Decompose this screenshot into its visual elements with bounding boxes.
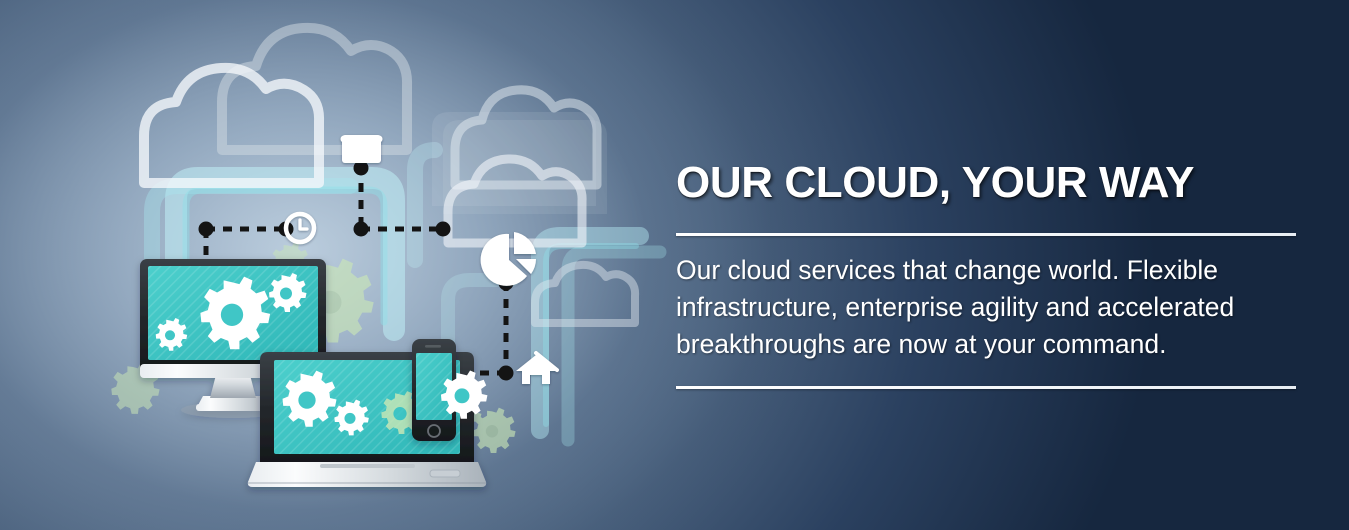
cloud-illustration (0, 0, 700, 530)
cloud-banner: OUR CLOUD, YOUR WAY Our cloud services t… (0, 0, 1349, 530)
connector-dot (354, 222, 369, 237)
connector-dot (499, 366, 514, 381)
banner-text-block: OUR CLOUD, YOUR WAY Our cloud services t… (676, 160, 1298, 389)
connector-dot (199, 222, 214, 237)
envelope-icon (342, 135, 381, 163)
connector-dot (436, 222, 451, 237)
page-title: OUR CLOUD, YOUR WAY (676, 160, 1298, 206)
divider-bottom (676, 386, 1296, 389)
divider-top (676, 233, 1296, 236)
banner-description: Our cloud services that change world. Fl… (676, 252, 1298, 363)
